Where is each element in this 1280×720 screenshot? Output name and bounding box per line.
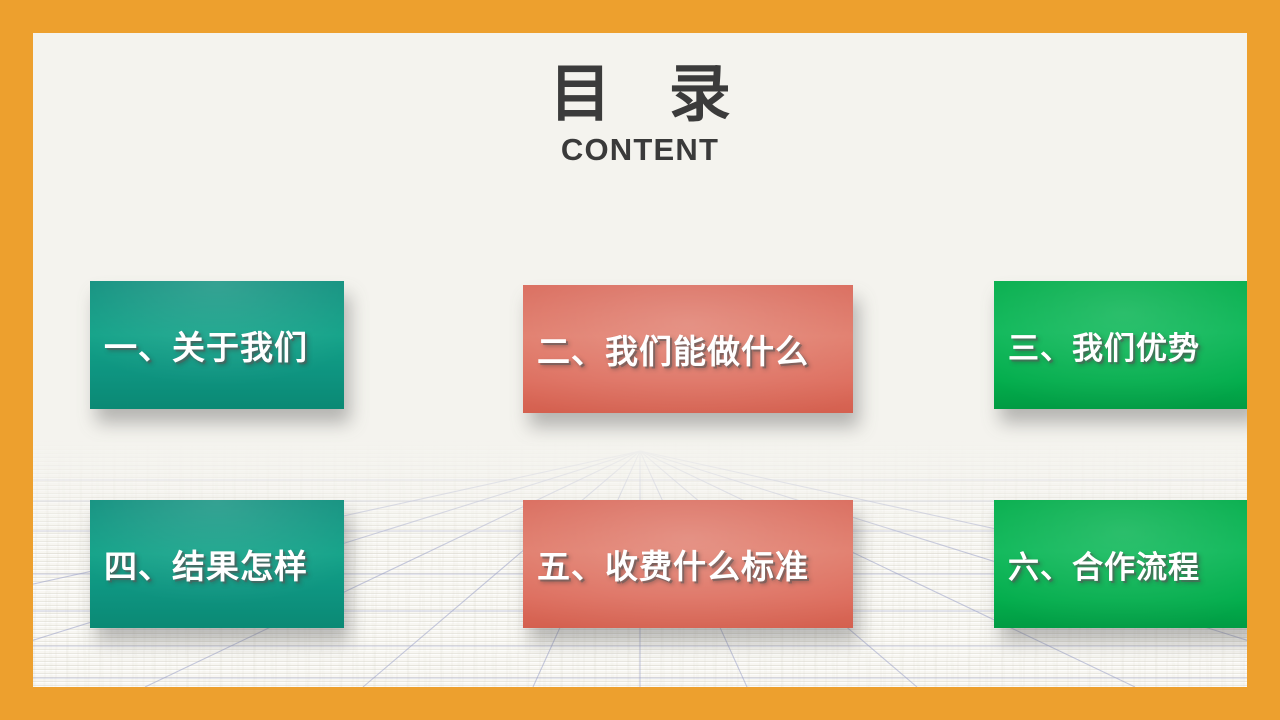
content-item-4-label: 四、结果怎样 xyxy=(90,540,344,588)
content-item-3-label: 三、我们优势 xyxy=(994,323,1247,368)
content-item-5[interactable]: 五、收费什么标准 xyxy=(523,500,853,628)
page-subtitle: CONTENT xyxy=(33,128,1247,168)
content-item-3[interactable]: 三、我们优势 xyxy=(994,281,1247,409)
content-item-1[interactable]: 一、关于我们 xyxy=(90,281,344,409)
title-block: 目 录 CONTENT xyxy=(33,33,1247,168)
content-item-6[interactable]: 六、合作流程 xyxy=(994,500,1247,628)
slide-canvas: 目 录 CONTENT 一、关于我们 二、我们能做什么 三、我们优势 四、结果怎… xyxy=(33,33,1247,687)
content-item-4[interactable]: 四、结果怎样 xyxy=(90,500,344,628)
slide-root: 目 录 CONTENT 一、关于我们 二、我们能做什么 三、我们优势 四、结果怎… xyxy=(0,0,1280,720)
page-title: 目 录 xyxy=(33,33,1247,128)
content-item-6-label: 六、合作流程 xyxy=(994,542,1247,587)
content-item-2[interactable]: 二、我们能做什么 xyxy=(523,285,853,413)
content-item-5-label: 五、收费什么标准 xyxy=(523,540,853,588)
content-item-1-label: 一、关于我们 xyxy=(90,321,344,369)
content-item-2-label: 二、我们能做什么 xyxy=(523,325,853,373)
